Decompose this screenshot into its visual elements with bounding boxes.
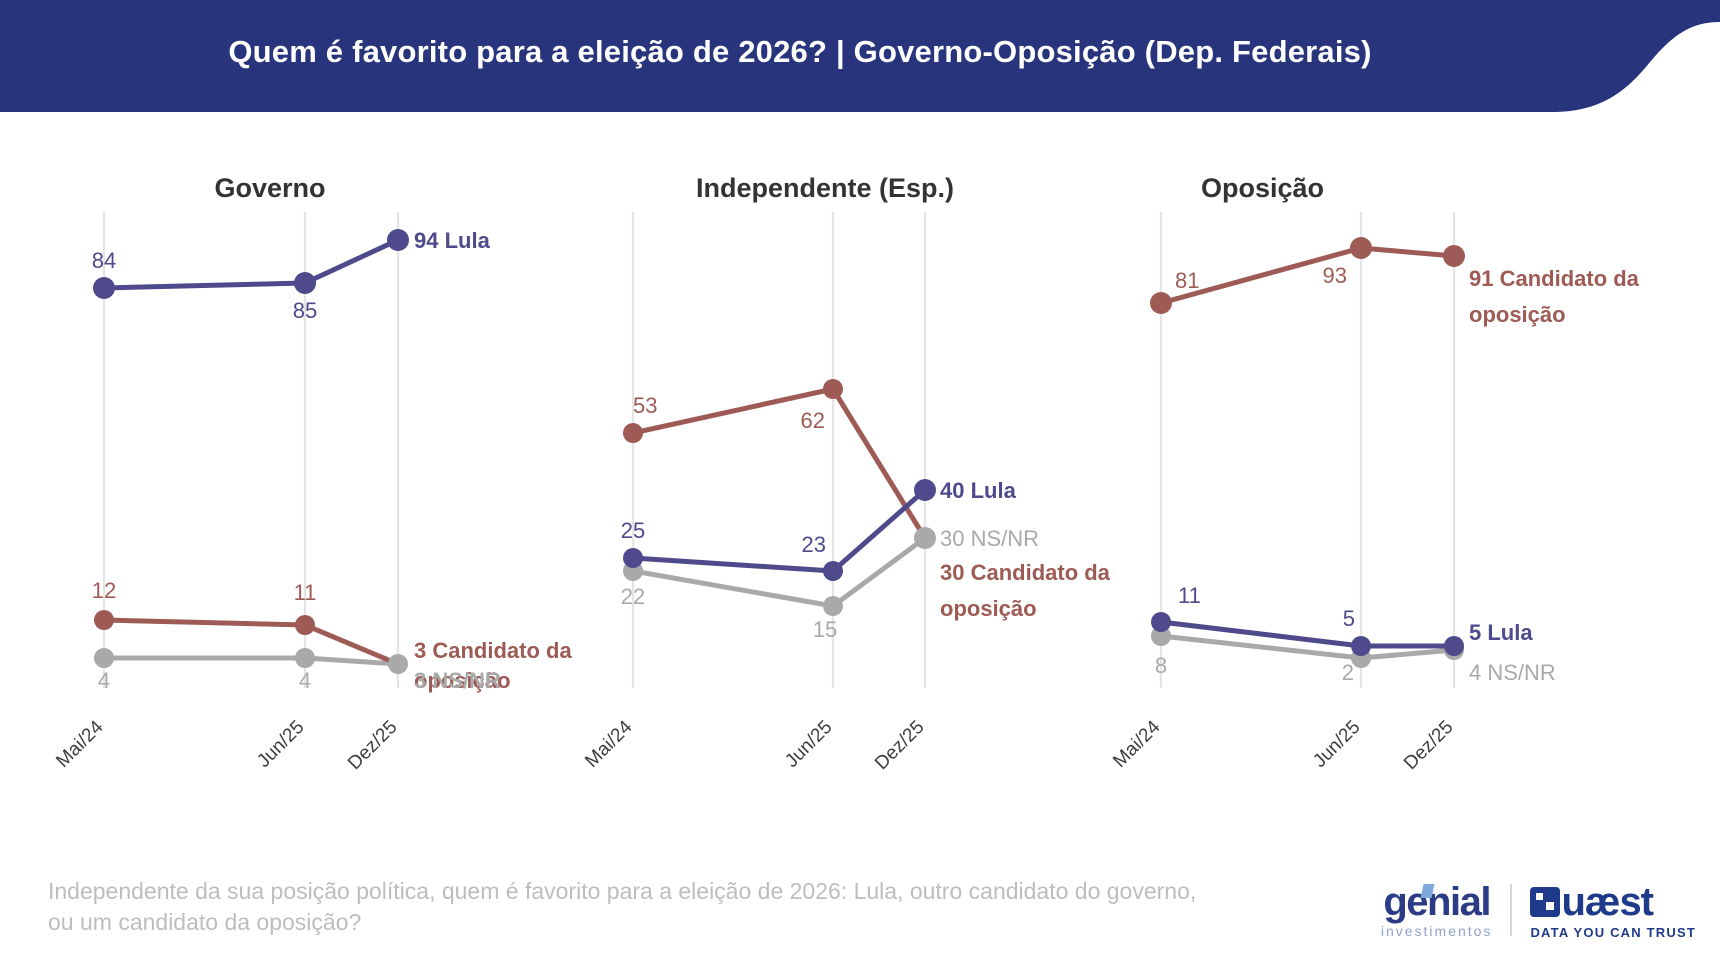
value-label: 62 xyxy=(801,408,825,433)
value-label: 12 xyxy=(92,578,116,603)
series-end-label-lula: 94 Lula xyxy=(414,228,491,253)
series-end-label-lula: 5 Lula xyxy=(1469,620,1533,645)
x-tick-label: Dez/25 xyxy=(871,717,928,774)
value-label: 22 xyxy=(621,584,645,609)
charts-area: Governo 84 8 xyxy=(0,128,1720,888)
quaest-logo: uæst DATA YOU CAN TRUST xyxy=(1530,882,1696,939)
page-title: Quem é favorito para a eleição de 2026? … xyxy=(0,34,1600,70)
x-tick-label: Jun/25 xyxy=(781,717,836,772)
quaest-wordmark-text: uæst xyxy=(1561,882,1653,922)
x-tick-label: Mai/24 xyxy=(581,716,636,771)
quaest-square-icon xyxy=(1530,887,1560,917)
value-label: 85 xyxy=(293,298,317,323)
question-note-line1: Independente da sua posição política, qu… xyxy=(48,876,1378,907)
genial-logo: genial investimentos xyxy=(1381,882,1493,938)
series-end-label-nsnr: 3 NS/NR xyxy=(414,668,501,693)
panel-independente: Independente (Esp.) 53 62 25 23 xyxy=(540,128,1140,888)
question-note-line2: ou um candidato da oposição? xyxy=(48,907,1378,938)
value-label: 8 xyxy=(1155,653,1167,678)
genial-tagline: investimentos xyxy=(1381,924,1493,938)
series-end-label-lula: 40 Lula xyxy=(940,478,1017,503)
x-tick-label: Dez/25 xyxy=(344,717,401,774)
value-label: 23 xyxy=(802,532,826,557)
plot-governo: 84 85 12 11 4 4 94 Lula 3 Candidato daop… xyxy=(0,128,600,888)
slide-root: Quem é favorito para a eleição de 2026? … xyxy=(0,0,1720,959)
value-label: 25 xyxy=(621,518,645,543)
panel-oposicao: Oposição 81 93 11 5 xyxy=(1075,128,1720,888)
x-tick-label: Jun/25 xyxy=(253,717,308,772)
value-label: 4 xyxy=(299,668,311,693)
logo-group: genial investimentos uæst DATA YOU CAN T… xyxy=(1381,878,1696,942)
plot-oposicao: 81 93 11 5 8 2 5 Lula 4 NS/NR 91 Candida… xyxy=(1075,128,1720,888)
quaest-tagline: DATA YOU CAN TRUST xyxy=(1530,926,1696,939)
genial-wordmark-text: genial xyxy=(1383,880,1490,924)
value-label: 2 xyxy=(1342,660,1354,685)
genial-wordmark: genial xyxy=(1383,882,1490,922)
value-label: 11 xyxy=(1178,583,1201,608)
header-banner: Quem é favorito para a eleição de 2026? … xyxy=(0,0,1720,128)
value-label: 4 xyxy=(98,668,110,693)
x-tick-label: Jun/25 xyxy=(1309,717,1364,772)
logo-divider xyxy=(1510,884,1512,936)
series-end-label-oposicao: 91 Candidato daoposição xyxy=(1469,266,1640,327)
value-label: 81 xyxy=(1175,268,1199,293)
x-tick-label: Dez/25 xyxy=(1400,717,1457,774)
panel-governo: Governo 84 8 xyxy=(0,128,600,888)
value-label: 11 xyxy=(294,580,317,605)
x-tick-label: Mai/24 xyxy=(52,716,107,771)
plot-independente: 53 62 25 23 22 15 40 Lula 30 NS/NR 30 Ca… xyxy=(540,128,1140,888)
series-end-label-nsnr: 30 NS/NR xyxy=(940,526,1039,551)
value-label: 5 xyxy=(1343,606,1355,631)
quaest-wordmark: uæst xyxy=(1530,882,1696,922)
value-label: 93 xyxy=(1323,263,1347,288)
value-label: 15 xyxy=(813,617,837,642)
series-end-label-nsnr: 4 NS/NR xyxy=(1469,660,1556,685)
value-label: 53 xyxy=(633,393,657,418)
x-tick-label: Mai/24 xyxy=(1109,716,1164,771)
question-note: Independente da sua posição política, qu… xyxy=(48,876,1378,938)
footer: Independente da sua posição política, qu… xyxy=(0,864,1720,959)
value-label: 84 xyxy=(92,248,116,273)
